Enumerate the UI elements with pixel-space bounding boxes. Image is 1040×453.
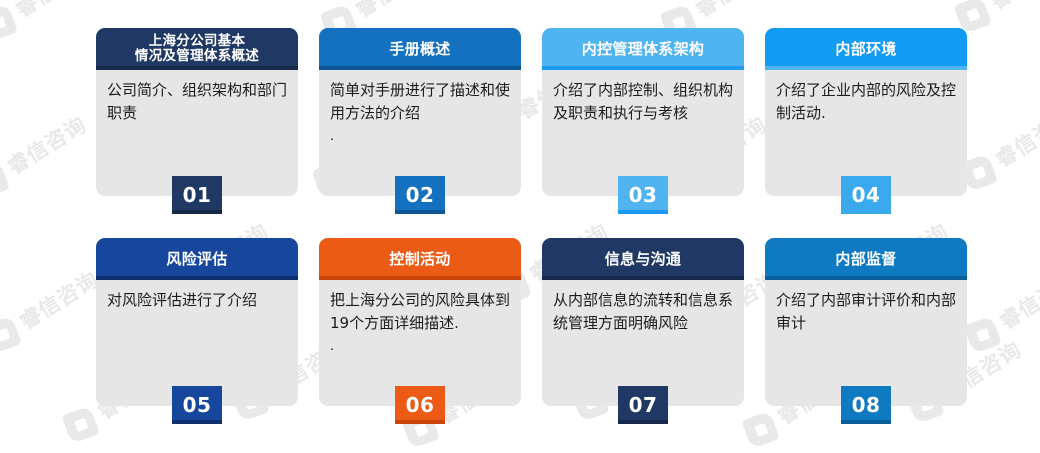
card-title-line: 内部监督 — [835, 250, 896, 268]
card-04[interactable]: 内部环境介绍了企业内部的风险及控制活动.04 — [765, 28, 967, 196]
card-number-01: 01 — [183, 183, 212, 207]
card-title-line: 信息与沟通 — [605, 250, 682, 268]
card-header-stripe — [542, 276, 744, 280]
card-badge-stripe — [395, 210, 445, 214]
card-number-badge-04[interactable]: 04 — [841, 176, 891, 214]
card-header-01: 上海分公司基本情况及管理体系概述 — [96, 28, 298, 70]
card-title-03: 内控管理体系架构 — [582, 41, 704, 58]
card-header-stripe — [319, 276, 521, 280]
card-trailing-mark-02: . — [330, 125, 510, 148]
card-title-08: 内部监督 — [835, 251, 896, 268]
card-05[interactable]: 风险评估对风险评估进行了介绍05 — [96, 238, 298, 406]
card-title-04: 内部环境 — [835, 41, 896, 58]
card-header-07: 信息与沟通 — [542, 238, 744, 280]
ruixin-logo-mark-icon — [60, 404, 101, 445]
card-badge-stripe — [172, 420, 222, 424]
card-title-line: 手册概述 — [389, 40, 450, 58]
card-number-03: 03 — [629, 183, 658, 207]
card-title-02: 手册概述 — [389, 41, 450, 58]
card-header-04: 内部环境 — [765, 28, 967, 70]
card-03[interactable]: 内控管理体系架构介绍了内部控制、组织机构及职责和执行与考核03 — [542, 28, 744, 196]
card-header-stripe — [96, 66, 298, 70]
card-body-06: 把上海分公司的风险具体到19个方面详细描述.. — [319, 280, 521, 357]
card-body-08: 介绍了内部审计评价和内部审计 — [765, 280, 967, 335]
card-number-badge-05[interactable]: 05 — [172, 386, 222, 424]
card-header-05: 风险评估 — [96, 238, 298, 280]
card-header-06: 控制活动 — [319, 238, 521, 280]
watermark-text: 睿信咨询 — [1, 109, 92, 181]
card-number-badge-02[interactable]: 02 — [395, 176, 445, 214]
watermark-text: 睿信咨询 — [989, 102, 1040, 174]
card-number-badge-03[interactable]: 03 — [618, 176, 668, 214]
card-title-line: 情况及管理体系概述 — [135, 48, 259, 64]
card-title-01: 上海分公司基本情况及管理体系概述 — [135, 34, 259, 64]
card-07[interactable]: 信息与沟通从内部信息的流转和信息系统管理方面明确风险07 — [542, 238, 744, 406]
watermark-21: 睿信咨询 — [962, 264, 1040, 356]
card-08[interactable]: 内部监督介绍了内部审计评价和内部审计08 — [765, 238, 967, 406]
card-badge-stripe — [618, 210, 668, 214]
card-number-badge-01[interactable]: 01 — [172, 176, 222, 214]
card-number-07: 07 — [629, 393, 658, 417]
card-title-06: 控制活动 — [389, 251, 450, 268]
card-description-02: 简单对手册进行了描述和使用方法的介绍 — [330, 79, 510, 125]
card-header-stripe — [765, 66, 967, 70]
card-body-03: 介绍了内部控制、组织机构及职责和执行与考核 — [542, 70, 744, 125]
watermark-text: 睿信咨询 — [13, 264, 104, 336]
card-description-03: 介绍了内部控制、组织机构及职责和执行与考核 — [553, 79, 733, 125]
card-06[interactable]: 控制活动把上海分公司的风险具体到19个方面详细描述..06 — [319, 238, 521, 406]
ruixin-logo-mark-icon — [740, 409, 781, 450]
card-02[interactable]: 手册概述简单对手册进行了描述和使用方法的介绍.02 — [319, 28, 521, 196]
card-header-03: 内控管理体系架构 — [542, 28, 744, 70]
card-01[interactable]: 上海分公司基本情况及管理体系概述公司简介、组织架构和部门职责01 — [96, 28, 298, 196]
watermark-15: 睿信咨询 — [0, 264, 104, 356]
card-badge-stripe — [618, 420, 668, 424]
watermark-14: 睿信咨询 — [958, 102, 1040, 194]
card-header-stripe — [542, 66, 744, 70]
card-body-05: 对风险评估进行了介绍 — [96, 280, 298, 312]
card-title-line: 控制活动 — [389, 250, 450, 268]
card-title-05: 风险评估 — [166, 251, 227, 268]
card-number-06: 06 — [406, 393, 435, 417]
card-title-line: 风险评估 — [166, 250, 227, 268]
ruixin-logo-mark-icon — [0, 159, 11, 200]
card-description-05: 对风险评估进行了介绍 — [107, 289, 287, 312]
card-description-04: 介绍了企业内部的风险及控制活动. — [776, 79, 956, 125]
card-title-07: 信息与沟通 — [605, 251, 682, 268]
card-header-stripe — [96, 276, 298, 280]
ruixin-logo-mark-icon — [962, 314, 1003, 355]
card-description-01: 公司简介、组织架构和部门职责 — [107, 79, 287, 125]
card-number-08: 08 — [852, 393, 881, 417]
watermark-text: 睿信咨询 — [689, 0, 780, 24]
card-badge-stripe — [395, 420, 445, 424]
card-number-badge-06[interactable]: 06 — [395, 386, 445, 424]
ruixin-logo-mark-icon — [0, 314, 23, 355]
card-number-badge-08[interactable]: 08 — [841, 386, 891, 424]
watermark-text: 睿信咨询 — [983, 0, 1040, 16]
card-badge-stripe — [172, 210, 222, 214]
card-number-badge-07[interactable]: 07 — [618, 386, 668, 424]
card-body-01: 公司简介、组织架构和部门职责 — [96, 70, 298, 125]
card-body-04: 介绍了企业内部的风险及控制活动. — [765, 70, 967, 125]
card-title-line: 上海分公司基本 — [149, 33, 246, 49]
card-description-06: 把上海分公司的风险具体到19个方面详细描述. — [330, 289, 510, 335]
card-badge-stripe — [841, 420, 891, 424]
watermark-text: 睿信咨询 — [349, 0, 440, 24]
card-number-02: 02 — [406, 183, 435, 207]
card-header-stripe — [319, 66, 521, 70]
watermark-1: 睿信咨询 — [0, 0, 100, 43]
card-badge-stripe — [841, 210, 891, 214]
card-body-07: 从内部信息的流转和信息系统管理方面明确风险 — [542, 280, 744, 335]
card-number-05: 05 — [183, 393, 212, 417]
card-body-02: 简单对手册进行了描述和使用方法的介绍. — [319, 70, 521, 147]
card-title-line: 内控管理体系架构 — [582, 40, 704, 58]
watermark-text: 睿信咨询 — [993, 264, 1040, 336]
ruixin-logo-mark-icon — [0, 2, 19, 43]
card-grid: 上海分公司基本情况及管理体系概述公司简介、组织架构和部门职责01手册概述简单对手… — [96, 28, 968, 406]
card-header-stripe — [765, 276, 967, 280]
watermark-8: 睿信咨询 — [0, 109, 92, 201]
slide-canvas: 睿信咨询睿信咨询睿信咨询睿信咨询睿信咨询睿信咨询睿信咨询睿信咨询睿信咨询睿信咨询… — [0, 0, 1040, 453]
card-header-08: 内部监督 — [765, 238, 967, 280]
card-title-line: 内部环境 — [835, 40, 896, 58]
card-number-04: 04 — [852, 183, 881, 207]
card-trailing-mark-06: . — [330, 335, 510, 358]
card-description-08: 介绍了内部审计评价和内部审计 — [776, 289, 956, 335]
card-description-07: 从内部信息的流转和信息系统管理方面明确风险 — [553, 289, 733, 335]
watermark-text: 睿信咨询 — [9, 0, 100, 24]
card-header-02: 手册概述 — [319, 28, 521, 70]
